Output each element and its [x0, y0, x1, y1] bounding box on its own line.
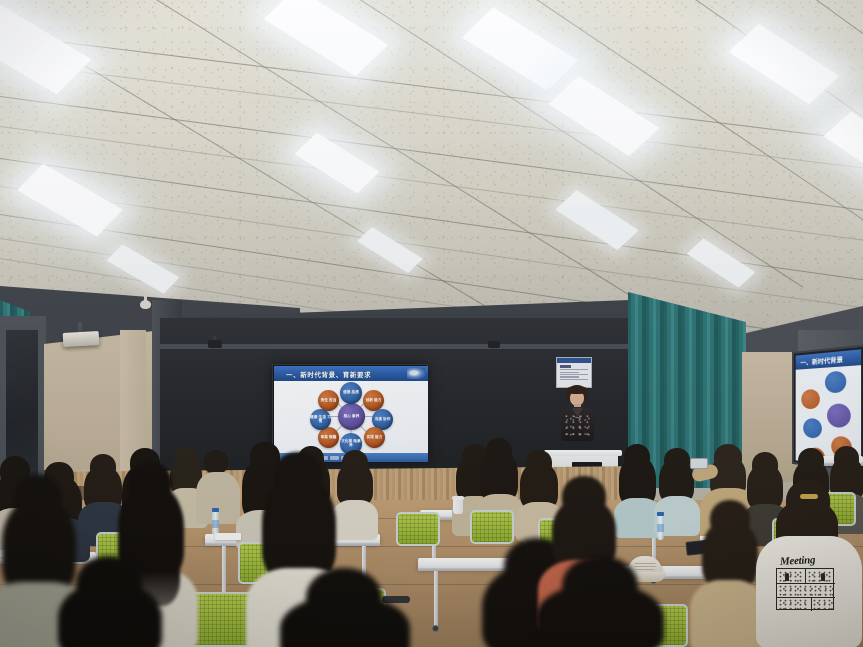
- institution-emblem-icon: [407, 368, 425, 379]
- bottle-cap: [657, 512, 664, 516]
- poster-line: [560, 369, 588, 370]
- stage-camera-left: [208, 340, 222, 348]
- panel-divider: [811, 597, 812, 611]
- presenter-outfit-detail: [565, 415, 590, 437]
- tshirt-doodle: [779, 585, 833, 596]
- slide-bubble-bottom-right: 实践 能力: [364, 427, 385, 448]
- pearl-necklace-icon: [573, 413, 582, 418]
- tshirt-fabric: Meeting: [756, 536, 862, 647]
- stage-wall-ledge: [160, 344, 628, 349]
- secondary-bubble: [827, 404, 851, 428]
- audience-hair: [58, 582, 162, 647]
- poster-line: [560, 376, 579, 377]
- poster-line: [560, 379, 588, 380]
- tshirt-figure: [785, 573, 789, 581]
- hair-clip-icon: [800, 494, 818, 499]
- audience-hair: [262, 476, 336, 582]
- ceiling: [0, 0, 863, 330]
- poster-header-bar: [557, 358, 591, 363]
- slide-bubble-top-left: 责任 担当: [318, 390, 339, 411]
- slide-bubble-center: 核心 素养: [338, 403, 365, 430]
- table-leg: [222, 546, 226, 598]
- slide-bubble-left: 健康 生活 习惯: [310, 409, 331, 430]
- audience-hair: [702, 520, 758, 588]
- secondary-bubble: [825, 371, 846, 394]
- poster-line: [560, 374, 588, 375]
- poster-heading: [560, 365, 588, 368]
- presenter-hair-front: [566, 386, 588, 394]
- coffee-cup[interactable]: [453, 500, 463, 514]
- audience-member-foreground: [510, 556, 690, 647]
- audience-hair: [536, 584, 664, 647]
- secondary-bubble: [803, 418, 822, 438]
- slide-bubble-top: 道德 品质: [340, 382, 362, 404]
- tshirt-comic-panel: [776, 568, 834, 610]
- photo-scene: 一、新时代背景、育新要求 核心 素养 道德 品质 创新 能力 沟通 协作: [0, 0, 863, 647]
- bottle-label: [657, 524, 664, 532]
- tshirt-figure: [821, 573, 825, 581]
- audience-hair: [280, 596, 410, 647]
- audience-member-foreground: [250, 568, 440, 647]
- tshirt-doodle: [779, 599, 809, 610]
- chair[interactable]: [396, 512, 440, 546]
- slide-header-bar: 一、新时代背景、育新要求: [274, 366, 428, 381]
- security-camera-icon: [140, 300, 151, 309]
- audience-member-meeting-shirt: Meeting: [758, 480, 863, 647]
- meeting-tshirt: Meeting: [756, 536, 862, 647]
- audience-torso: [690, 580, 766, 647]
- bottle-cap: [212, 508, 219, 512]
- audience-head: [204, 450, 228, 474]
- tshirt-word: Meeting: [780, 554, 816, 568]
- poster-line: [560, 372, 579, 373]
- ceiling-projector: [63, 331, 100, 347]
- secondary-bubble: [801, 389, 820, 409]
- panel-divider: [777, 597, 835, 598]
- bottle-label: [212, 520, 219, 528]
- slide-title: 一、新时代背景、育新要求: [274, 369, 371, 379]
- chair-backrest: [396, 512, 440, 546]
- wall-poster: [556, 357, 592, 388]
- audience-member-foreground: [690, 500, 764, 647]
- secondary-slide-title: 一、新时代背景: [796, 349, 861, 369]
- audience-member-foreground: [36, 556, 186, 647]
- stage-camera-right: [488, 341, 500, 348]
- paper-notes[interactable]: [215, 533, 241, 540]
- panel-divider: [805, 569, 806, 583]
- slide-body: 核心 素养 道德 品质 创新 能力 沟通 协作 实践 能力 文化基 础素养 审美…: [274, 381, 428, 453]
- tshirt-doodle: [813, 599, 833, 610]
- slide-bubble-bottom-left: 审美 情趣: [318, 427, 339, 448]
- smartphone[interactable]: [690, 458, 708, 469]
- slide-bubble-top-right: 创新 能力: [363, 390, 384, 411]
- panel-divider: [777, 583, 835, 584]
- tshirt-doodle: [779, 571, 803, 582]
